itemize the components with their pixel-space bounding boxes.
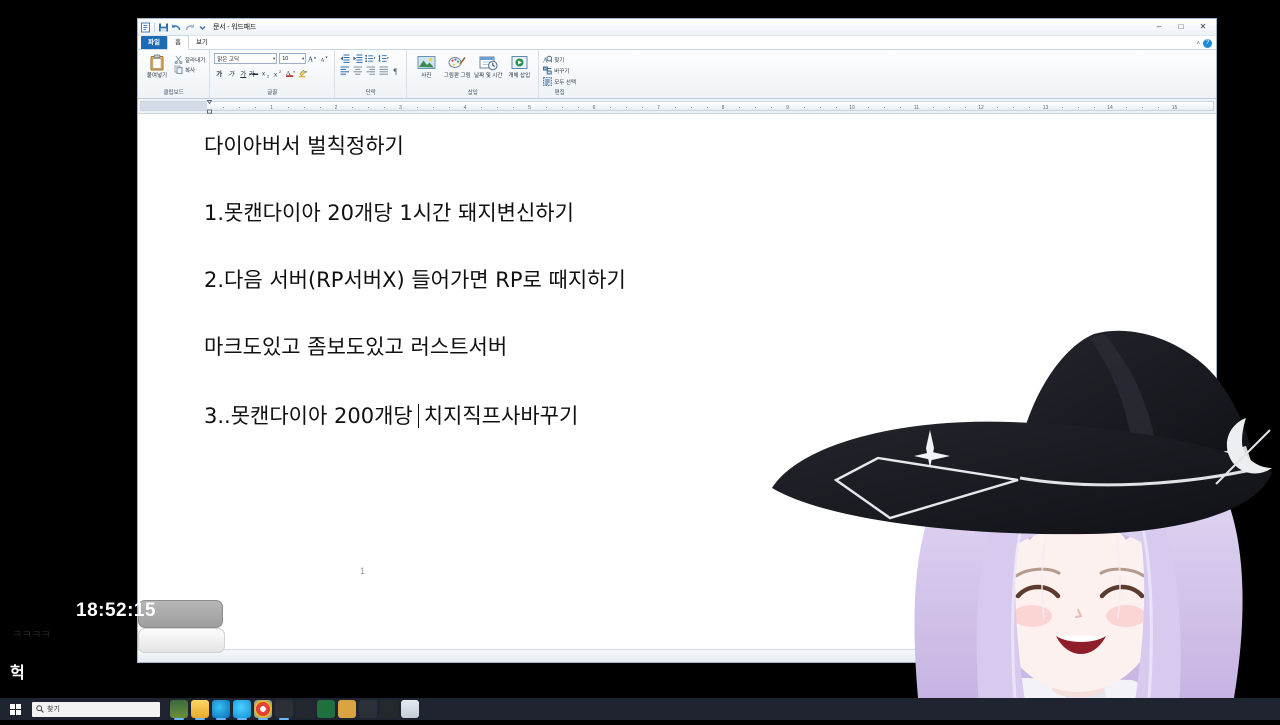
collapse-ribbon-icon[interactable]: ˄	[1196, 41, 1200, 47]
stream-timer: 18:52:15	[76, 600, 156, 622]
group-label-clipboard: 클립보드	[164, 90, 184, 98]
ruler-minor-tick	[868, 107, 869, 108]
ruler-minor-tick	[304, 107, 305, 108]
ruler-minor-tick	[1126, 107, 1127, 108]
paragraph-mark-icon[interactable]: ¶	[391, 65, 402, 75]
tab-file[interactable]: 파일	[141, 36, 167, 49]
ruler-minor-tick	[433, 107, 434, 108]
insert-object-button[interactable]: 개체 삽입	[504, 53, 534, 79]
text-caret	[418, 404, 419, 428]
shrink-font-icon[interactable]: A▾	[320, 54, 330, 63]
paste-label: 붙여넣기	[147, 73, 167, 79]
svg-text:2: 2	[279, 69, 282, 74]
skype-icon[interactable]	[233, 700, 251, 718]
ribbon-group-editing: A 찾기 바꾸기	[538, 50, 580, 98]
vtuber-avatar	[760, 318, 1280, 720]
group-label-paragraph: 단락	[366, 90, 376, 98]
document-line-before-caret: 3..못캔다이아 200개당	[204, 404, 413, 428]
ruler-tick: 8	[722, 106, 725, 111]
ruler-minor-tick	[352, 107, 353, 108]
window-controls[interactable]: – □ ✕	[1148, 19, 1214, 34]
ruler-minor-tick	[626, 107, 627, 108]
ruler-minor-tick	[997, 107, 998, 108]
tab-view[interactable]: 보기	[189, 36, 215, 49]
ruler-minor-tick	[691, 107, 692, 108]
window-titlebar: 문서 - 워드패드 – □ ✕	[138, 19, 1216, 36]
ribbon-group-font: 맑은 고딕 ▾ 10 ▾ A▴ A▾	[209, 50, 334, 98]
svg-text:2: 2	[267, 73, 270, 77]
ruler-minor-tick	[320, 107, 321, 108]
subscript-icon[interactable]: x2	[262, 68, 272, 78]
svg-text:▾: ▾	[326, 55, 328, 60]
tab-home[interactable]: 홈	[167, 35, 189, 50]
ruler-minor-tick	[900, 107, 901, 108]
stream-canvas: 문서 - 워드패드 – □ ✕ 파일 홈 보기 ˄ ?	[0, 0, 1280, 720]
ruler-tick: 7	[657, 106, 660, 111]
chevron-down-icon: ▾	[300, 56, 304, 62]
minimize-button[interactable]: –	[1148, 19, 1170, 34]
ruler-minor-tick	[965, 107, 966, 108]
ruler-minor-tick	[707, 107, 708, 108]
ruler-minor-tick	[804, 107, 805, 108]
ruler-minor-tick	[1062, 107, 1063, 108]
ruler-minor-tick	[949, 107, 950, 108]
copy-button[interactable]: 복사	[174, 65, 205, 74]
svg-text:x: x	[262, 71, 265, 77]
save-icon[interactable]	[158, 22, 169, 33]
italic-icon[interactable]: 가	[226, 68, 236, 78]
font-size-value: 10	[282, 56, 300, 62]
ruler-track[interactable]: 123456789101112131415	[140, 101, 1214, 111]
ruler-tick: 14	[1107, 106, 1113, 111]
insert-date-time-button[interactable]: 날짜 및 시간	[473, 53, 503, 79]
ruler-minor-tick	[578, 107, 579, 108]
ruler-tick: 9	[786, 106, 789, 111]
search-icon	[36, 700, 44, 718]
start-icon[interactable]	[0, 698, 30, 720]
cut-icon	[174, 55, 183, 64]
replace-label: 바꾸기	[554, 67, 569, 75]
ruler-minor-tick	[755, 107, 756, 108]
text-color-icon[interactable]: A▾	[286, 68, 296, 78]
strikethrough-icon[interactable]: ᅟ가	[250, 68, 260, 78]
ruler-minor-tick	[449, 107, 450, 108]
ruler-minor-tick	[384, 107, 385, 108]
ruler-tick: 3	[399, 106, 402, 111]
svg-text:▾: ▾	[374, 55, 376, 59]
ruler-tick: 5	[528, 106, 531, 111]
select-all-icon	[543, 77, 552, 86]
group-label-font: 글꼴	[267, 90, 277, 98]
ruler-minor-tick	[675, 107, 676, 108]
insert-picture-button[interactable]: 사진	[411, 53, 441, 79]
taskbar[interactable]: 찾기	[0, 698, 1280, 720]
select-all-label: 모두 선택	[554, 78, 576, 86]
insert-paint-drawing-button[interactable]: 그림판 그림	[442, 53, 472, 79]
quick-access-toolbar[interactable]	[140, 22, 208, 33]
increase-indent-icon[interactable]	[352, 53, 363, 63]
svg-text:A: A	[321, 58, 325, 64]
svg-text:▴: ▴	[314, 54, 316, 59]
chat-ghost-text: ㅋㅋㅋㅋ	[12, 626, 50, 642]
ruler-minor-tick	[1142, 107, 1143, 108]
ruler-minor-tick	[562, 107, 563, 108]
close-button[interactable]: ✕	[1192, 19, 1214, 34]
ruler-tick: 2	[335, 106, 338, 111]
ribbon-group-paragraph: ▾ ▾	[334, 50, 406, 98]
document-line-after-caret: 치지직프사바꾸기	[424, 404, 579, 428]
ruler-minor-tick	[1013, 107, 1014, 108]
find-label: 찾기	[554, 56, 564, 64]
overlay-bar-secondary	[138, 628, 225, 653]
ribbon-tabs[interactable]: 파일 홈 보기 ˄ ?	[138, 36, 1216, 50]
ruler-minor-tick	[481, 107, 482, 108]
justify-icon[interactable]	[378, 65, 389, 75]
maximize-button[interactable]: □	[1170, 19, 1192, 34]
underline-icon[interactable]: 가	[238, 68, 248, 78]
ribbon: 붙여넣기 잘라내기 복사	[138, 50, 1216, 99]
ruler-minor-tick	[836, 107, 837, 108]
undo-icon[interactable]	[171, 22, 182, 33]
chrome-icon[interactable]	[254, 700, 272, 718]
insert-object-icon	[510, 53, 529, 72]
document-line: 다이아버서 벌칙정하기	[204, 136, 1176, 157]
ruler-tick: 4	[464, 106, 467, 111]
font-size-combo[interactable]: 10 ▾	[279, 53, 306, 64]
svg-text:▾: ▾	[294, 70, 296, 74]
ruler-minor-tick	[642, 107, 643, 108]
ruler-minor-tick	[255, 107, 256, 108]
search-input[interactable]: 찾기	[32, 702, 160, 717]
bullets-icon[interactable]: ▾	[365, 53, 376, 63]
paste-icon	[148, 53, 167, 72]
ruler-left-margin	[141, 102, 207, 110]
cut-button[interactable]: 잘라내기	[174, 55, 205, 64]
ruler-tick: 1	[270, 106, 273, 111]
group-label-insert: 삽입	[468, 90, 478, 98]
ruler-minor-tick	[884, 107, 885, 108]
paint-drawing-icon	[448, 53, 467, 72]
replace-icon	[543, 66, 552, 75]
document-line: 2.다음 서버(RP서버X) 들어가면 RP로 때지하기	[204, 270, 1176, 291]
picture-icon	[417, 53, 436, 72]
ruler-tick: 11	[914, 106, 919, 111]
ruler-tick: 10	[849, 106, 855, 111]
svg-text:¶: ¶	[393, 66, 397, 75]
ruler-minor-tick	[288, 107, 289, 108]
search-placeholder: 찾기	[47, 704, 60, 714]
paste-button[interactable]: 붙여넣기	[142, 53, 172, 79]
ruler-tick: 13	[1043, 106, 1049, 111]
ruler-minor-tick	[513, 107, 514, 108]
ruler-minor-tick	[1078, 107, 1079, 108]
ruler-minor-tick	[933, 107, 934, 108]
document-line: 1.못캔다이아 20개당 1시간 돼지변신하기	[204, 203, 1176, 224]
copy-label: 복사	[185, 66, 195, 74]
page-number: 1	[360, 566, 365, 576]
find-icon: A	[543, 55, 552, 64]
redo-icon[interactable]	[184, 22, 195, 33]
reaction-caption: 헉	[10, 659, 25, 683]
font-name-value: 맑은 고딕	[217, 55, 271, 63]
vlc-icon[interactable]	[296, 700, 314, 718]
window-title: 문서 - 워드패드	[213, 22, 256, 32]
decrease-indent-icon[interactable]	[339, 53, 350, 63]
ribbon-group-insert: 사진 그림판 그림 날짜 및 시간	[406, 50, 538, 98]
indent-marker[interactable]	[207, 100, 212, 114]
paint-drawing-label: 그림판 그림	[444, 73, 471, 79]
calculator-icon[interactable]	[401, 700, 419, 718]
bold-icon[interactable]: 가	[214, 68, 224, 78]
insert-object-label: 개체 삽입	[508, 73, 530, 79]
wordpad-icon	[140, 22, 151, 33]
ruler-tick: 15	[1172, 106, 1178, 111]
replace-button[interactable]: 바꾸기	[543, 66, 576, 75]
ruler-minor-tick	[771, 107, 772, 108]
picture-label: 사진	[421, 73, 431, 79]
ruler-minor-tick	[497, 107, 498, 108]
font-name-combo[interactable]: 맑은 고딕 ▾	[214, 53, 277, 64]
ribbon-group-clipboard: 붙여넣기 잘라내기 복사	[138, 50, 209, 98]
ruler-minor-tick	[610, 107, 611, 108]
svg-text:▾: ▾	[387, 55, 389, 59]
github-icon[interactable]	[380, 700, 398, 718]
notepad-icon[interactable]	[317, 700, 335, 718]
ruler-minor-tick	[417, 107, 418, 108]
qat-divider	[154, 23, 155, 32]
ruler-minor-tick	[239, 107, 240, 108]
ruler-minor-tick	[368, 107, 369, 108]
edge-icon[interactable]	[212, 700, 230, 718]
customize-qat-icon[interactable]	[197, 22, 208, 33]
explorer-icon[interactable]	[191, 700, 209, 718]
taskbar-app-icons[interactable]	[170, 700, 419, 718]
superscript-icon[interactable]: x2	[274, 68, 284, 78]
steam-icon[interactable]	[170, 700, 188, 718]
ruler-tick: 12	[978, 106, 984, 111]
obs-alt-icon[interactable]	[359, 700, 377, 718]
ruler[interactable]: 123456789101112131415	[138, 99, 1216, 114]
align-right-icon[interactable]	[365, 65, 376, 75]
obs-icon[interactable]	[275, 700, 293, 718]
ruler-minor-tick	[1094, 107, 1095, 108]
ruler-minor-tick	[546, 107, 547, 108]
align-center-icon[interactable]	[352, 65, 363, 75]
help-icon[interactable]: ?	[1203, 39, 1212, 48]
ruler-tick: 6	[593, 106, 596, 111]
find-button[interactable]: A 찾기	[543, 55, 576, 64]
svg-text:x: x	[274, 72, 277, 77]
svg-text:A: A	[308, 56, 313, 64]
ruler-minor-tick	[1029, 107, 1030, 108]
ruler-minor-tick	[1158, 107, 1159, 108]
copy-icon	[174, 65, 183, 74]
svg-text:▾: ▾	[306, 70, 308, 74]
discord-icon[interactable]	[338, 700, 356, 718]
line-spacing-icon[interactable]: ▾	[378, 53, 389, 63]
date-time-icon	[479, 53, 498, 72]
align-left-icon[interactable]	[339, 65, 350, 75]
ruler-minor-tick	[223, 107, 224, 108]
grow-font-icon[interactable]: A▴	[308, 54, 318, 63]
ruler-minor-tick	[739, 107, 740, 108]
chevron-down-icon: ▾	[271, 56, 275, 62]
date-time-label: 날짜 및 시간	[474, 73, 502, 79]
cut-label: 잘라내기	[185, 56, 205, 64]
ruler-minor-tick	[820, 107, 821, 108]
select-all-button[interactable]: 모두 선택	[543, 77, 576, 86]
group-label-editing: 편집	[555, 90, 565, 98]
highlight-icon[interactable]: ▾	[298, 68, 308, 78]
